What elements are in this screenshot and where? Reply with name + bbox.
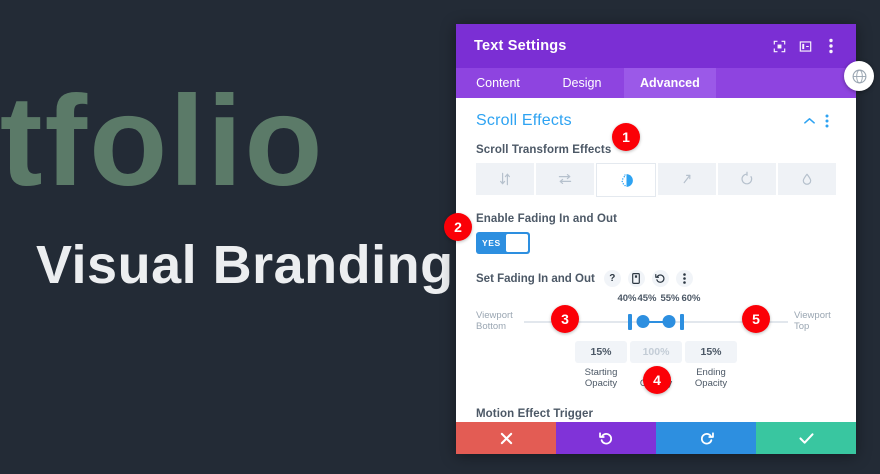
- slider-handle-start-bar[interactable]: [628, 314, 632, 330]
- tick-label-end-bar: 60%: [681, 293, 700, 304]
- starting-opacity-field: 15% Starting Opacity: [575, 341, 627, 390]
- background-subheadline: Visual Branding: [36, 238, 454, 292]
- expand-icon[interactable]: [766, 33, 792, 59]
- responsive-icon[interactable]: [628, 270, 645, 287]
- enable-fading-field: Enable Fading In and Out YES: [476, 213, 836, 254]
- scroll-effects-title: Scroll Effects: [476, 112, 800, 130]
- mid-opacity-input[interactable]: 100%: [630, 341, 682, 363]
- enable-fading-label: Enable Fading In and Out: [476, 213, 836, 225]
- check-icon: [799, 432, 814, 445]
- toggle-value-label: YES: [478, 238, 506, 248]
- callout-badge-5: 5: [742, 305, 770, 333]
- field-more-vertical-icon[interactable]: [676, 270, 693, 287]
- transform-effects-group: [476, 163, 836, 197]
- page-settings-bubble[interactable]: [844, 61, 874, 91]
- field-dots-glyph: [683, 273, 686, 284]
- close-icon: [500, 432, 513, 445]
- reset-icon[interactable]: [652, 270, 669, 287]
- effect-fade-in-out[interactable]: [596, 163, 656, 197]
- callout-badge-3: 3: [551, 305, 579, 333]
- motion-trigger-label: Motion Effect Trigger: [476, 408, 836, 420]
- slider-tick-labels: 40% 45% 55% 60%: [476, 293, 836, 306]
- ending-opacity-field: 15% Ending Opacity: [685, 341, 737, 390]
- transform-effects-label: Scroll Transform Effects: [476, 144, 836, 156]
- globe-icon: [851, 68, 868, 85]
- horizontal-motion-icon: [557, 171, 573, 187]
- redo-button[interactable]: [656, 422, 756, 454]
- effect-scaling-up-down[interactable]: [658, 163, 716, 195]
- motion-trigger-field: Motion Effect Trigger Middle of Element …: [476, 408, 836, 422]
- slider-handle-start-dot[interactable]: [636, 315, 649, 328]
- scaling-up-down-icon: [679, 171, 695, 187]
- section-dots-glyph: [825, 114, 829, 128]
- starting-opacity-label: Starting Opacity: [575, 367, 627, 390]
- help-icon[interactable]: ?: [604, 270, 621, 287]
- effect-vertical-motion[interactable]: [476, 163, 534, 195]
- undo-glyph: [655, 273, 666, 284]
- chevron-up-icon[interactable]: [800, 112, 818, 130]
- viewport-bottom-label: Viewport Bottom: [476, 311, 518, 333]
- dots-glyph: [829, 38, 833, 54]
- fading-range-slider: 40% 45% 55% 60% Viewport Bottom Viewport…: [476, 293, 836, 339]
- cancel-button[interactable]: [456, 422, 556, 454]
- effect-horizontal-motion[interactable]: [536, 163, 594, 195]
- modal-action-bar: [456, 422, 856, 454]
- tick-label-start-dot: 45%: [637, 293, 656, 304]
- effect-rotating[interactable]: [718, 163, 776, 195]
- slider-handle-end-bar[interactable]: [680, 314, 684, 330]
- layout-panel-icon[interactable]: [792, 33, 818, 59]
- starting-opacity-input[interactable]: 15%: [575, 341, 627, 363]
- slider-handle-end-dot[interactable]: [663, 315, 676, 328]
- rotating-icon: [739, 171, 755, 187]
- blur-icon: [799, 171, 815, 187]
- background-headline: rtfolio: [0, 78, 325, 206]
- modal-titlebar: Text Settings: [456, 24, 856, 68]
- undo-button[interactable]: [556, 422, 656, 454]
- ending-opacity-label: Ending Opacity: [685, 367, 737, 390]
- set-fading-label: Set Fading In and Out: [476, 273, 595, 285]
- enable-fading-toggle[interactable]: YES: [476, 232, 530, 254]
- ending-opacity-input[interactable]: 15%: [685, 341, 737, 363]
- redo-icon: [699, 431, 714, 446]
- modal-tabs: Content Design Advanced: [456, 68, 856, 98]
- save-button[interactable]: [756, 422, 856, 454]
- callout-badge-2: 2: [444, 213, 472, 241]
- tab-content[interactable]: Content: [456, 68, 540, 98]
- layout-glyph: [799, 40, 812, 53]
- effect-blur[interactable]: [778, 163, 836, 195]
- section-more-vertical-icon[interactable]: [818, 112, 836, 130]
- toggle-knob: [506, 234, 528, 252]
- set-fading-header: Set Fading In and Out ?: [476, 270, 836, 287]
- expand-glyph: [773, 40, 786, 53]
- tick-label-start-bar: 40%: [617, 293, 636, 304]
- undo-icon: [599, 431, 614, 446]
- vertical-motion-icon: [497, 171, 513, 187]
- modal-title: Text Settings: [474, 38, 766, 54]
- scroll-effects-header: Scroll Effects: [476, 112, 836, 130]
- callout-badge-4: 4: [643, 366, 671, 394]
- viewport-top-label: Viewport Top: [794, 311, 836, 333]
- tab-advanced[interactable]: Advanced: [624, 68, 716, 98]
- chevron-up-glyph: [804, 117, 815, 125]
- fade-in-out-icon: [618, 172, 635, 189]
- more-vertical-icon[interactable]: [818, 33, 844, 59]
- slider-row: Viewport Bottom Viewport Top: [476, 309, 836, 335]
- callout-badge-1: 1: [612, 123, 640, 151]
- tab-design[interactable]: Design: [540, 68, 624, 98]
- mobile-glyph: [632, 273, 640, 284]
- tick-label-end-dot: 55%: [660, 293, 679, 304]
